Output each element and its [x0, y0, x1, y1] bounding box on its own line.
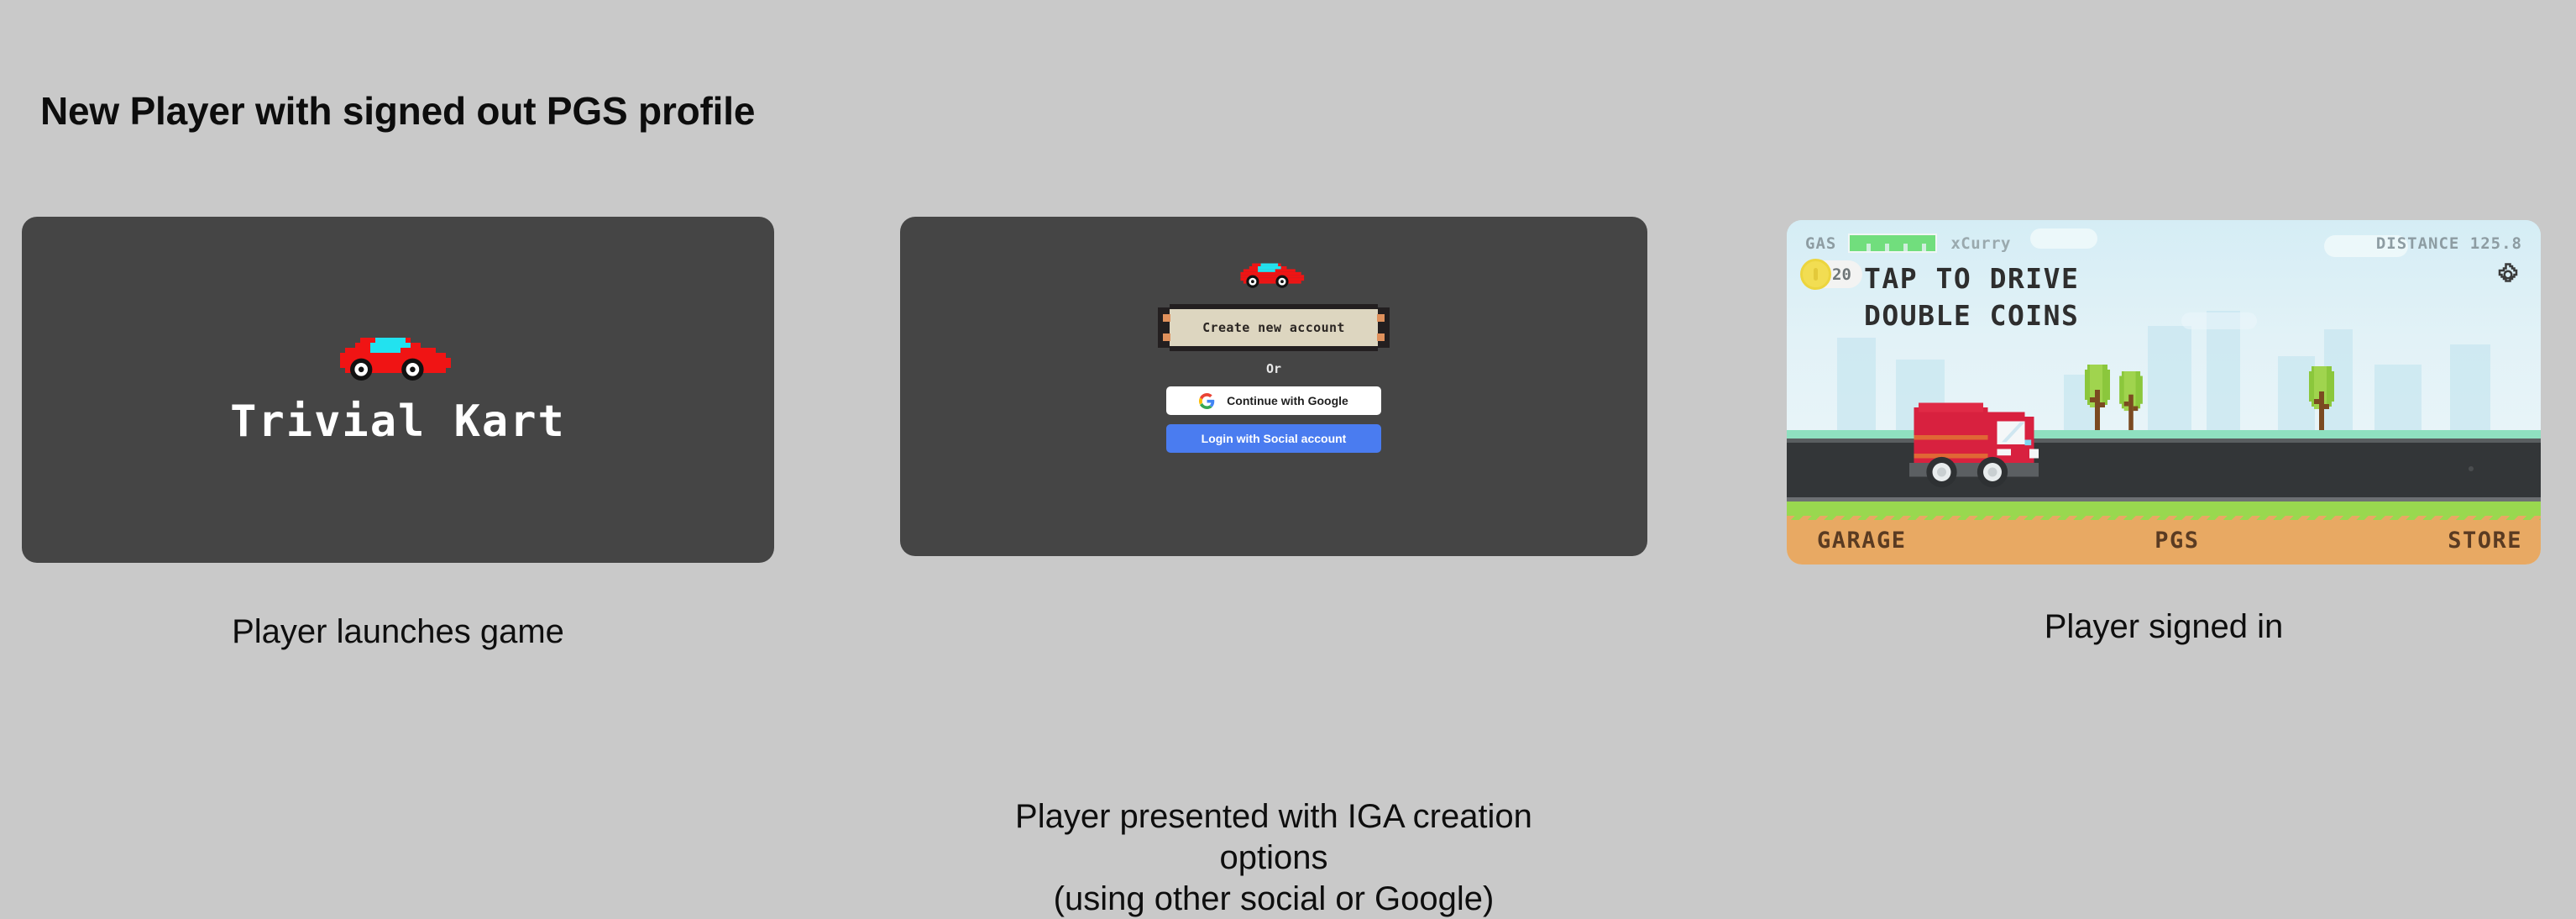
game-message-line: DOUBLE COINS — [1864, 297, 2079, 334]
slide-canvas: New Player with signed out PGS profile — [0, 0, 2576, 809]
nav-item-store[interactable]: STORE — [2448, 528, 2522, 554]
gas-meter — [1848, 234, 1937, 253]
coin-counter: 20 — [1804, 260, 1862, 288]
tree-icon — [2085, 365, 2110, 434]
banner-bar-bottom — [1170, 345, 1378, 351]
username-label: xCurry — [1950, 234, 2011, 253]
bottom-nav: GARAGE PGS STORE — [1787, 523, 2541, 558]
banner-nub — [1377, 314, 1385, 322]
nav-item-pgs[interactable]: PGS — [2155, 528, 2199, 554]
nav-item-garage[interactable]: GARAGE — [1817, 528, 1907, 554]
road — [1787, 443, 2541, 497]
panel-gameplay: GAS xCurry DISTANCE 125.8 20 — [1787, 220, 2541, 565]
page-title: New Player with signed out PGS profile — [40, 88, 755, 134]
continue-with-google-label: Continue with Google — [1227, 394, 1348, 407]
login-with-social-account-button[interactable]: Login with Social account — [1166, 424, 1381, 453]
red-pixel-car-icon — [1238, 260, 1310, 292]
panel-iga-options: Create new account Or Continue with Goog… — [900, 217, 1647, 556]
tree-icon — [2119, 371, 2143, 436]
caption-splash: Player launches game — [22, 612, 774, 653]
banner-nub — [1377, 333, 1385, 341]
game-message: TAP TO DRIVE DOUBLE COINS — [1864, 260, 2079, 333]
google-icon — [1199, 393, 1215, 409]
distance-label: DISTANCE 125.8 — [2376, 234, 2522, 253]
splash-screenshot: Trivial Kart — [22, 217, 774, 563]
hud-bar: GAS xCurry DISTANCE 125.8 — [1805, 234, 2522, 253]
banner-nub — [1163, 314, 1170, 322]
caption-line: options — [867, 838, 1681, 879]
banner-nub — [1163, 333, 1170, 341]
coin-count-label: 20 — [1832, 265, 1851, 284]
or-divider-label: Or — [1266, 361, 1281, 376]
gameplay-screenshot: GAS xCurry DISTANCE 125.8 20 — [1787, 220, 2541, 565]
red-pixel-truck-icon — [1904, 398, 2062, 495]
create-new-account-button[interactable]: Create new account — [1151, 304, 1396, 351]
tree-icon — [2309, 366, 2334, 436]
caption-line: (using other social or Google) — [867, 879, 1681, 919]
red-pixel-car-icon — [335, 333, 461, 388]
game-title: Trivial Kart — [230, 396, 566, 447]
game-message-line: TAP TO DRIVE — [1864, 260, 2079, 297]
login-with-social-account-label: Login with Social account — [1202, 432, 1347, 445]
continue-with-google-button[interactable]: Continue with Google — [1166, 386, 1381, 415]
gas-label: GAS — [1805, 234, 1836, 253]
iga-screenshot: Create new account Or Continue with Goog… — [900, 217, 1647, 556]
gear-icon[interactable] — [2495, 262, 2521, 287]
panel-splash: Trivial Kart Player launches game — [22, 217, 774, 563]
coin-icon — [1800, 259, 1831, 290]
create-new-account-label: Create new account — [1202, 320, 1345, 335]
caption-iga: Player presented with IGA creation optio… — [867, 796, 1681, 919]
caption-line: Player presented with IGA creation — [867, 796, 1681, 838]
caption-gameplay: Player signed in — [1787, 607, 2541, 648]
